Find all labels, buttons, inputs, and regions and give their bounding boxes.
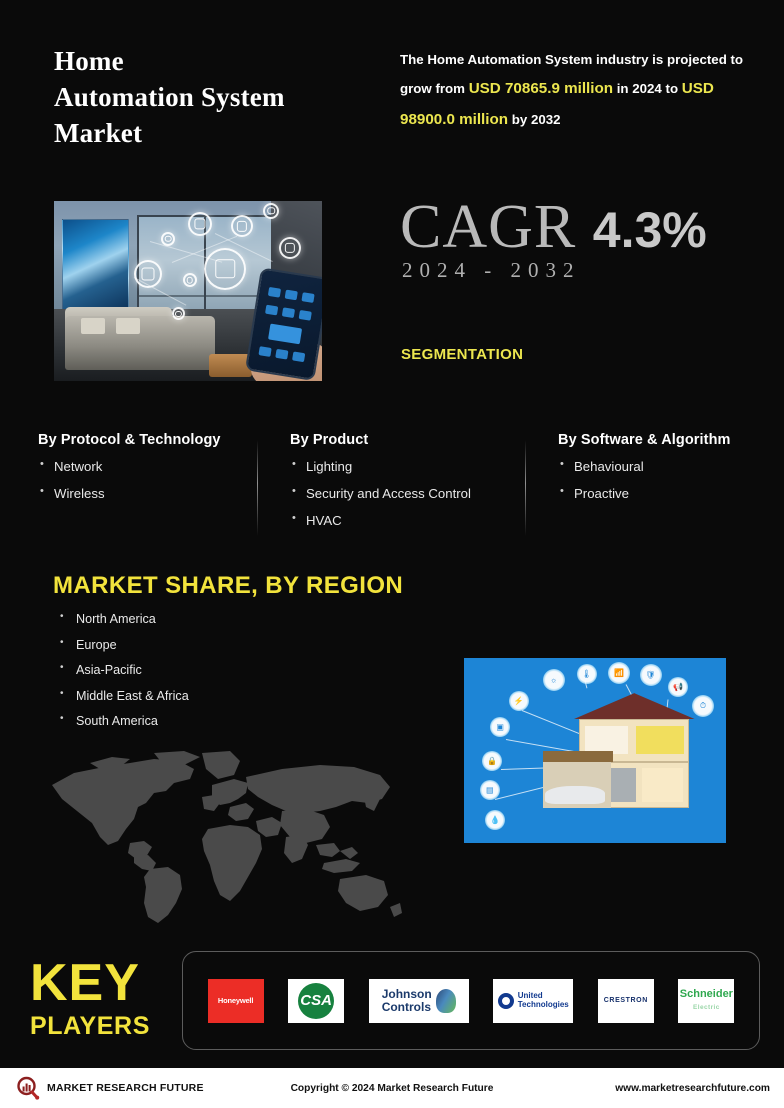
segmentation-columns: By Protocol & Technology Network Wireles… — [38, 432, 758, 542]
logo-csa: CSA — [288, 979, 344, 1023]
list-item: Security and Access Control — [290, 487, 548, 500]
segmentation-column-product: By Product Lighting Security and Access … — [290, 432, 548, 542]
list-item: South America — [56, 715, 189, 728]
hero-smart-home-photo — [54, 201, 322, 381]
lock-icon: 🔒 — [482, 751, 502, 771]
page-title-line-3: Market — [54, 116, 384, 152]
cagr-period: 2024 - 2032 — [402, 258, 581, 283]
house-car — [545, 786, 605, 805]
megaphone-icon: 📢 — [668, 677, 688, 697]
market-share-heading: MARKET SHARE, BY REGION — [53, 572, 403, 600]
photo-wall-art — [62, 219, 129, 313]
shield-icon: 🛡 — [640, 664, 662, 686]
list-item: Asia-Pacific — [56, 664, 189, 677]
logo-csa-mark: CSA — [298, 983, 334, 1019]
logo-schneider-line-2: Electric — [693, 1004, 720, 1011]
power-icon: ⚡ — [509, 691, 529, 711]
world-map-silhouette — [34, 745, 414, 930]
logo-ut-line-1: United — [518, 991, 543, 1000]
magnifier-bar-chart-icon — [16, 1076, 40, 1100]
key-players-heading-line-2: PLAYERS — [30, 1014, 150, 1039]
logo-honeywell: Honeywell — [208, 979, 264, 1023]
list-item: North America — [56, 613, 189, 626]
cagr-label: CAGR — [400, 193, 576, 261]
key-players-heading-line-1: KEY — [30, 957, 140, 1009]
segmentation-column-software-algorithm: By Software & Algorithm Behavioural Proa… — [558, 432, 783, 514]
infographic-page: Home Automation System Market The Home A… — [0, 0, 784, 1108]
light-bulb-icon: ☼ — [543, 669, 565, 691]
footer-brand-text: MARKET RESEARCH FUTURE — [47, 1082, 204, 1094]
list-item: Wireless — [38, 487, 250, 500]
footer-copyright: Copyright © 2024 Market Research Future — [291, 1083, 494, 1094]
footer-bar: MARKET RESEARCH FUTURE Copyright © 2024 … — [0, 1068, 784, 1108]
gear-small-icon — [161, 232, 175, 246]
logo-united-technologies: United Technologies — [493, 979, 573, 1023]
clock-icon: ⏱ — [692, 695, 714, 717]
logo-schneider-electric: Schneider Electric — [678, 979, 734, 1023]
logo-honeywell-text: Honeywell — [218, 996, 253, 1005]
water-drop-icon: 💧 — [485, 810, 505, 830]
market-share-region-list: North America Europe Asia-Pacific Middle… — [56, 613, 189, 741]
list-item: HVAC — [290, 514, 548, 527]
segmentation-heading: SEGMENTATION — [401, 346, 523, 363]
gear-small-icon — [263, 203, 279, 219]
gear-thermostat-icon — [188, 212, 212, 236]
segmentation-column-title: By Software & Algorithm — [558, 432, 783, 448]
list-item: Proactive — [558, 487, 783, 500]
projection-value-2024: USD 70865.9 million — [469, 80, 613, 97]
house-connector-line — [521, 710, 585, 736]
segmentation-column-list: Behavioural Proactive — [558, 460, 783, 500]
list-item: Behavioural — [558, 460, 783, 473]
wifi-icon: 📶 — [608, 662, 630, 684]
list-item: Network — [38, 460, 250, 473]
logo-united-technologies-text: United Technologies — [518, 992, 569, 1010]
projection-part-3: by 2032 — [508, 112, 561, 127]
footer-logo: MARKET RESEARCH FUTURE — [16, 1076, 204, 1100]
logo-ut-line-2: Technologies — [518, 1000, 569, 1009]
gear-person-icon — [279, 237, 301, 259]
photo-cushion — [81, 318, 105, 334]
logo-ut-mark-icon — [498, 993, 514, 1009]
segmentation-column-list: Network Wireless — [38, 460, 250, 500]
segmentation-column-protocol-technology: By Protocol & Technology Network Wireles… — [38, 432, 250, 514]
printer-icon: ▤ — [480, 780, 500, 800]
list-item: Europe — [56, 639, 189, 652]
gear-small-icon — [183, 273, 197, 287]
segmentation-column-title: By Product — [290, 432, 548, 448]
gear-home-icon — [204, 248, 246, 290]
projection-part-2: in 2024 to — [613, 81, 682, 96]
segmentation-column-list: Lighting Security and Access Control HVA… — [290, 460, 548, 528]
logo-crestron: CRESTRON — [598, 979, 654, 1023]
house-room — [636, 726, 684, 754]
house-roof — [574, 693, 695, 719]
page-title-line-2: Automation System — [54, 80, 384, 116]
logo-jc-mark-icon — [436, 989, 456, 1013]
house-room — [642, 768, 683, 802]
cagr-value: 4.3% — [593, 202, 707, 258]
market-projection-text: The Home Automation System industry is p… — [400, 46, 768, 136]
thermometer-icon: 🌡 — [577, 664, 597, 684]
logo-johnson-controls-text: Johnson Controls — [382, 988, 432, 1013]
page-title-line-1: Home — [54, 44, 384, 80]
logo-schneider-line-1: Schneider — [680, 988, 733, 1000]
smart-house-illustration: ☼ ⚡ ▣ 🔒 ▤ 💧 🌡 📶 🛡 📢 ⏱ — [464, 658, 726, 843]
photo-cushion — [116, 318, 140, 334]
list-item: Middle East & Africa — [56, 690, 189, 703]
gear-small-icon — [172, 307, 185, 320]
logo-jc-line-2: Controls — [382, 1000, 431, 1014]
monitor-icon: ▣ — [490, 717, 510, 737]
cagr-display: CAGR 4.3% — [400, 196, 707, 258]
footer-website-url[interactable]: www.marketresearchfuture.com — [615, 1083, 770, 1094]
segmentation-column-title: By Protocol & Technology — [38, 432, 250, 448]
page-title: Home Automation System Market — [54, 44, 384, 152]
logo-crestron-text: CRESTRON — [604, 997, 648, 1004]
logo-johnson-controls: Johnson Controls — [369, 979, 469, 1023]
logo-schneider-text: Schneider Electric — [680, 989, 733, 1012]
key-players-logo-strip: Honeywell CSA Johnson Controls United Te… — [182, 951, 760, 1050]
list-item: Lighting — [290, 460, 548, 473]
